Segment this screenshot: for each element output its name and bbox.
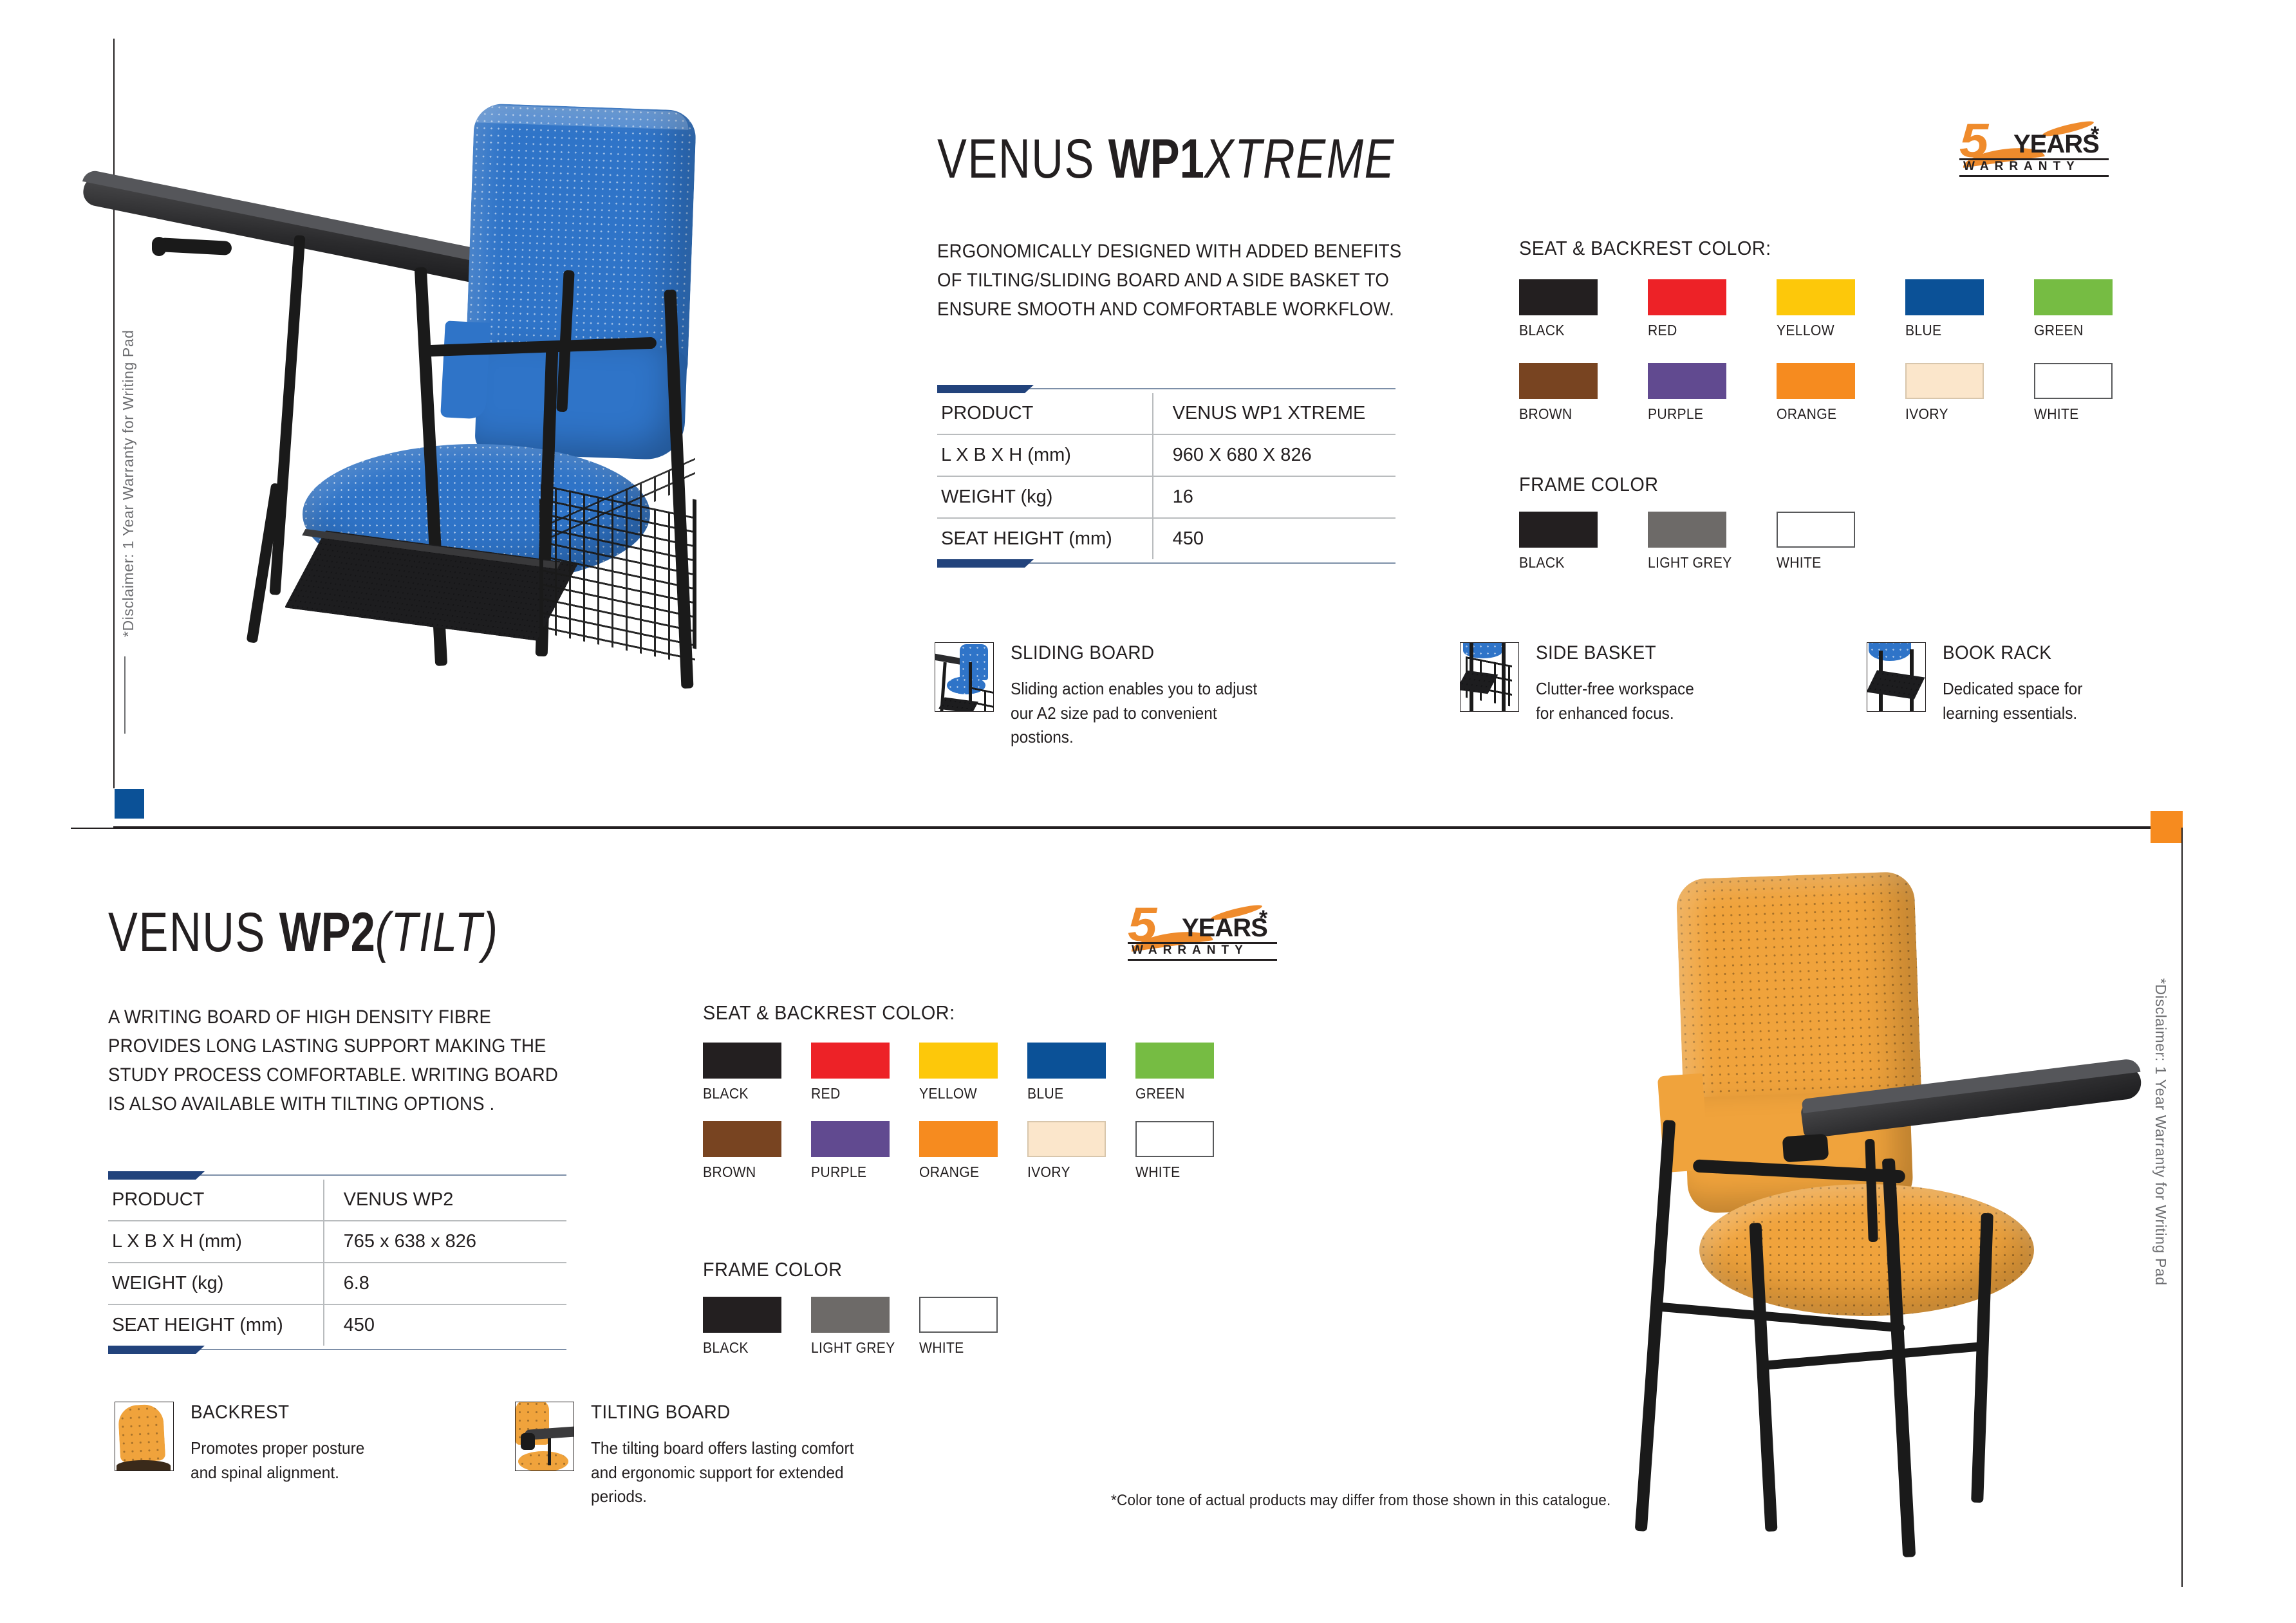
badge-rule-bottom (1128, 959, 1277, 961)
swatch-chip (1135, 1043, 1214, 1079)
swatch-chip (919, 1121, 998, 1157)
swatch-label: BLACK (703, 1339, 803, 1357)
table-row: L X B X H (mm) 960 X 680 X 826 (937, 434, 1395, 476)
swatch-chip (1648, 363, 1726, 399)
frame-swatch-black: BLACK (1519, 512, 1648, 571)
spec-value: 16 (1153, 476, 1395, 518)
frame-color-heading-wp2: FRAME COLOR (703, 1258, 843, 1281)
asterisk-mark: * (1259, 906, 1267, 931)
feature-body: Sliding action enables you to adjust our… (1011, 677, 1265, 750)
feature-thumb-side-basket (1460, 642, 1519, 712)
swatch-chip (2034, 279, 2113, 315)
title-bold-wp1: WP1 (1108, 128, 1204, 190)
swatch-chip (1135, 1121, 1214, 1157)
spec-value: 450 (324, 1304, 566, 1346)
table-row: WEIGHT (kg) 16 (937, 476, 1395, 518)
feature-title: BOOK RACK (1943, 642, 2110, 664)
swatch-ivory: IVORY (1905, 363, 2034, 423)
product-description-wp1: ERGONOMICALLY DESIGNED WITH ADDED BENEFI… (937, 237, 1405, 324)
spec-key: L X B X H (mm) (937, 434, 1153, 476)
spec-top-bar (108, 1171, 566, 1180)
swatch-label: BROWN (703, 1164, 803, 1181)
frame-swatch-light-grey: LIGHT GREY (811, 1297, 919, 1357)
feature-backrest: BACKREST Promotes proper posture and spi… (115, 1402, 384, 1485)
swatch-blue: BLUE (1027, 1043, 1135, 1102)
feature-body: The tilting board offers lasting comfort… (591, 1436, 881, 1509)
product-photo-wp2 (1564, 862, 2156, 1557)
warranty-word: WARRANTY (1963, 160, 2080, 174)
badge-rule-bottom (1959, 175, 2109, 177)
swatch-chip (1777, 512, 1855, 548)
swatch-white: WHITE (1135, 1121, 1244, 1181)
swatch-yellow: YELLOW (919, 1043, 1027, 1102)
table-row: SEAT HEIGHT (mm) 450 (108, 1304, 566, 1346)
swatch-red: RED (811, 1043, 919, 1102)
title-plain-wp1: VENUS (937, 128, 1108, 190)
swatch-label: PURPLE (1648, 405, 1766, 423)
feature-title: TILTING BOARD (591, 1402, 878, 1424)
swatch-label: GREEN (1135, 1085, 1235, 1102)
spec-table-wp1: PRODUCT VENUS WP1 XTREME L X B X H (mm) … (937, 385, 1395, 568)
swatch-orange: ORANGE (919, 1121, 1027, 1181)
swatch-label: LIGHT GREY (1648, 554, 1766, 571)
swatch-chip (919, 1297, 998, 1333)
frame-line-top-wp2 (71, 828, 2182, 829)
spec-value: 6.8 (324, 1263, 566, 1304)
seat-color-swatches-wp2: BLACK RED YELLOW BLUE GREEN (703, 1043, 1244, 1102)
swatch-label: ORANGE (1777, 405, 1895, 423)
title-italic-wp1: XTREME (1204, 128, 1395, 190)
swatch-chip (1519, 363, 1598, 399)
title-italic-wp2: (TILT) (375, 902, 499, 963)
swatch-label: WHITE (1777, 554, 1895, 571)
table-row: WEIGHT (kg) 6.8 (108, 1263, 566, 1304)
feature-thumb-tilting-board (515, 1402, 574, 1471)
swatch-label: GREEN (2034, 322, 2152, 339)
frame-swatch-light-grey: LIGHT GREY (1648, 512, 1777, 571)
table-row: PRODUCT VENUS WP1 XTREME (937, 393, 1395, 434)
swatch-chip (1519, 512, 1598, 548)
spec-bottom-bar (108, 1346, 566, 1354)
title-plain-wp2: VENUS (108, 902, 279, 963)
spec-value: 450 (1153, 518, 1395, 559)
swatch-chip (811, 1121, 890, 1157)
swatch-purple: PURPLE (811, 1121, 919, 1181)
swatch-chip (2034, 363, 2113, 399)
frame-color-swatches-wp1: BLACK LIGHT GREY WHITE (1519, 512, 2163, 571)
spec-value: VENUS WP1 XTREME (1153, 393, 1395, 434)
swatch-chip (811, 1297, 890, 1333)
seat-color-swatches-wp2-row2: BROWN PURPLE ORANGE IVORY WHITE (703, 1121, 1244, 1181)
swatch-orange: ORANGE (1777, 363, 1905, 423)
product-photo-wp1 (90, 97, 837, 631)
swatch-label: BLACK (703, 1085, 803, 1102)
swatch-label: BLUE (1027, 1085, 1127, 1102)
swatch-yellow: YELLOW (1777, 279, 1905, 339)
swatch-label: RED (1648, 322, 1766, 339)
swatch-label: PURPLE (811, 1164, 911, 1181)
feature-body: Dedicated space for learning essentials. (1943, 677, 2112, 725)
spec-key: WEIGHT (kg) (937, 476, 1153, 518)
swatch-white: WHITE (2034, 363, 2163, 423)
feature-thumb-backrest (115, 1402, 174, 1471)
swatch-black: BLACK (703, 1043, 811, 1102)
swatch-red: RED (1648, 279, 1777, 339)
table-row: L X B X H (mm) 765 x 638 x 826 (108, 1221, 566, 1263)
swatch-label: YELLOW (919, 1085, 1019, 1102)
feature-sliding-board: SLIDING BOARD Sliding action enables you… (935, 642, 1281, 750)
swatch-chip (1648, 512, 1726, 548)
title-bold-wp2: WP2 (279, 902, 375, 963)
swatch-chip (1027, 1121, 1106, 1157)
swatch-chip (1777, 279, 1855, 315)
warranty-years: YEARS (1182, 914, 1267, 943)
swatch-chip (703, 1297, 781, 1333)
product-title-wp2: VENUS WP2(TILT) (108, 901, 499, 965)
swatch-label: WHITE (2034, 405, 2152, 423)
feature-thumb-sliding-board (935, 642, 994, 712)
spec-key: PRODUCT (937, 393, 1153, 434)
swatch-label: BLACK (1519, 322, 1638, 339)
seat-color-heading-wp1: SEAT & BACKREST COLOR: (1519, 237, 1771, 260)
swatch-label: WHITE (1135, 1164, 1235, 1181)
swatch-chip (1648, 279, 1726, 315)
swatch-chip (1905, 363, 1984, 399)
spec-key: L X B X H (mm) (108, 1221, 324, 1263)
warranty-badge-wp1: 5 YEARS * WARRANTY (1957, 116, 2111, 177)
warranty-word: WARRANTY (1132, 943, 1249, 958)
seat-color-heading-wp2: SEAT & BACKREST COLOR: (703, 1001, 955, 1025)
swatch-label: IVORY (1905, 405, 2024, 423)
feature-title: BACKREST (191, 1402, 370, 1424)
feature-title: SLIDING BOARD (1011, 642, 1262, 664)
product-description-wp2: A WRITING BOARD OF HIGH DENSITY FIBRE PR… (108, 1003, 576, 1118)
swatch-brown: BROWN (1519, 363, 1648, 423)
feature-side-basket: SIDE BASKET Clutter-free workspace for e… (1460, 642, 1716, 725)
swatch-black: BLACK (1519, 279, 1648, 339)
spec-bottom-bar (937, 559, 1395, 568)
spec-table-wp2: PRODUCT VENUS WP2 L X B X H (mm) 765 x 6… (108, 1171, 566, 1354)
spec-key: SEAT HEIGHT (mm) (937, 518, 1153, 559)
asterisk-mark: * (2091, 122, 2099, 147)
swatch-green: GREEN (1135, 1043, 1244, 1102)
swatch-label: BLUE (1905, 322, 2024, 339)
feature-tilting-board: TILTING BOARD The tilting board offers l… (515, 1402, 900, 1509)
swatch-chip (1905, 279, 1984, 315)
swatch-chip (919, 1043, 998, 1079)
swatch-blue: BLUE (1905, 279, 2034, 339)
spec-value: 765 x 638 x 826 (324, 1221, 566, 1263)
seat-color-swatches-wp1-row2: BROWN PURPLE ORANGE IVORY WHITE (1519, 363, 2163, 423)
table-row: PRODUCT VENUS WP2 (108, 1180, 566, 1221)
frame-swatch-white: WHITE (1777, 512, 1905, 571)
feature-title: SIDE BASKET (1536, 642, 1703, 664)
feature-body: Clutter-free workspace for enhanced focu… (1536, 677, 1705, 725)
accent-square-orange (2151, 811, 2183, 843)
warranty-number: 5 (1128, 901, 1157, 949)
catalogue-page: *Disclaimer: 1 Year Warranty for Writing… (0, 0, 2296, 1623)
product-title-wp1: VENUS WP1XTREME (937, 127, 1395, 191)
frame-swatch-black: BLACK (703, 1297, 811, 1357)
swatch-label: RED (811, 1085, 911, 1102)
feature-body: Promotes proper posture and spinal align… (191, 1436, 372, 1485)
seat-color-swatches-wp1: BLACK RED YELLOW BLUE GREEN (1519, 279, 2163, 339)
disclaimer-rule-left (124, 656, 126, 734)
feature-thumb-book-rack (1867, 642, 1926, 712)
spec-top-bar (937, 385, 1395, 393)
swatch-ivory: IVORY (1027, 1121, 1135, 1181)
swatch-chip (703, 1121, 781, 1157)
spec-key: SEAT HEIGHT (mm) (108, 1304, 324, 1346)
warranty-years: YEARS (2013, 130, 2099, 159)
frame-color-swatches-wp2: BLACK LIGHT GREY WHITE (703, 1297, 1244, 1357)
swatch-purple: PURPLE (1648, 363, 1777, 423)
swatch-chip (811, 1043, 890, 1079)
frame-swatch-white: WHITE (919, 1297, 1027, 1357)
swatch-label: BLACK (1519, 554, 1638, 571)
swatch-chip (1777, 363, 1855, 399)
swatch-chip (1519, 279, 1598, 315)
swatch-label: IVORY (1027, 1164, 1127, 1181)
spec-key: WEIGHT (kg) (108, 1263, 324, 1304)
swatch-label: LIGHT GREY (811, 1339, 911, 1357)
feature-book-rack: BOOK RACK Dedicated space for learning e… (1867, 642, 2123, 725)
spec-value: VENUS WP2 (324, 1180, 566, 1221)
swatch-label: WHITE (919, 1339, 1019, 1357)
warranty-badge-wp2: 5 YEARS * WARRANTY (1125, 900, 1280, 961)
accent-square-blue (115, 789, 144, 819)
table-row: SEAT HEIGHT (mm) 450 (937, 518, 1395, 559)
swatch-chip (703, 1043, 781, 1079)
warranty-number: 5 (1959, 117, 1988, 165)
swatch-label: BROWN (1519, 405, 1638, 423)
frame-line-right-bottom (2181, 828, 2183, 1587)
swatch-label: YELLOW (1777, 322, 1895, 339)
spec-value: 960 X 680 X 826 (1153, 434, 1395, 476)
swatch-brown: BROWN (703, 1121, 811, 1181)
swatch-label: ORANGE (919, 1164, 1019, 1181)
spec-key: PRODUCT (108, 1180, 324, 1221)
swatch-chip (1027, 1043, 1106, 1079)
color-tone-footnote: *Color tone of actual products may diffe… (1111, 1492, 1610, 1510)
frame-color-heading-wp1: FRAME COLOR (1519, 473, 1659, 496)
swatch-green: GREEN (2034, 279, 2163, 339)
